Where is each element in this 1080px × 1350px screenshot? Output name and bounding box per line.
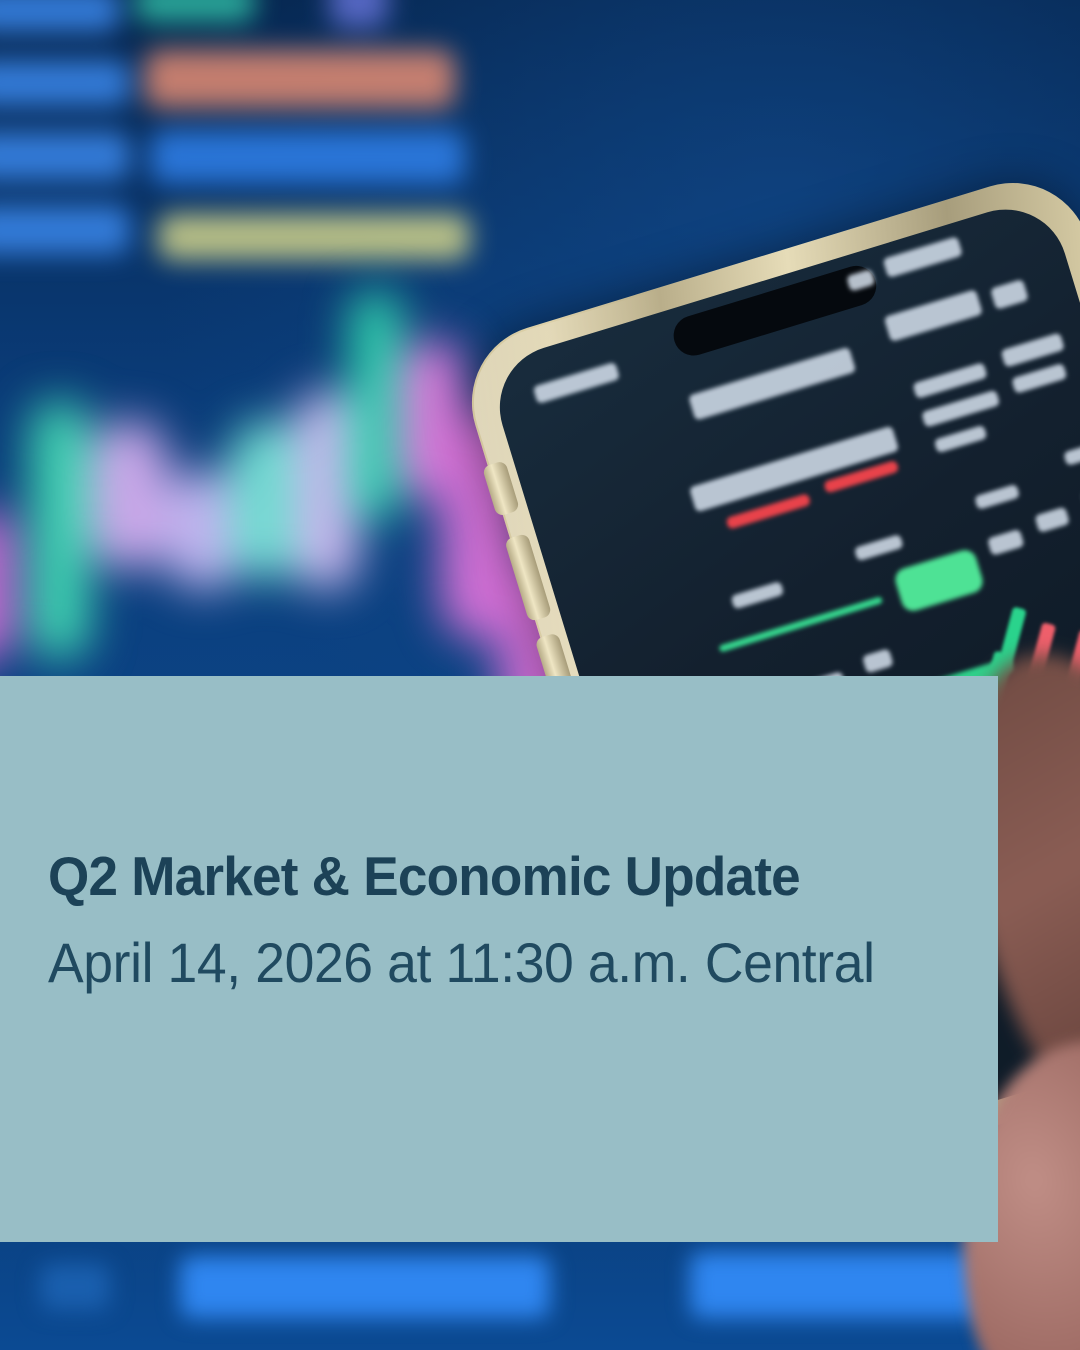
bottom-ticker-blur bbox=[0, 1238, 1080, 1350]
caption-panel: Q2 Market & Economic Update April 14, 20… bbox=[0, 676, 998, 1242]
event-title: Q2 Market & Economic Update bbox=[48, 848, 936, 905]
event-datetime: April 14, 2026 at 11:30 a.m. Central bbox=[48, 934, 927, 993]
event-promo-card: Q2 Market & Economic Update April 14, 20… bbox=[0, 0, 1080, 1350]
buy-button bbox=[892, 547, 985, 614]
caption-content: Q2 Market & Economic Update April 14, 20… bbox=[48, 848, 968, 993]
ticker-board-blur bbox=[0, 0, 530, 302]
